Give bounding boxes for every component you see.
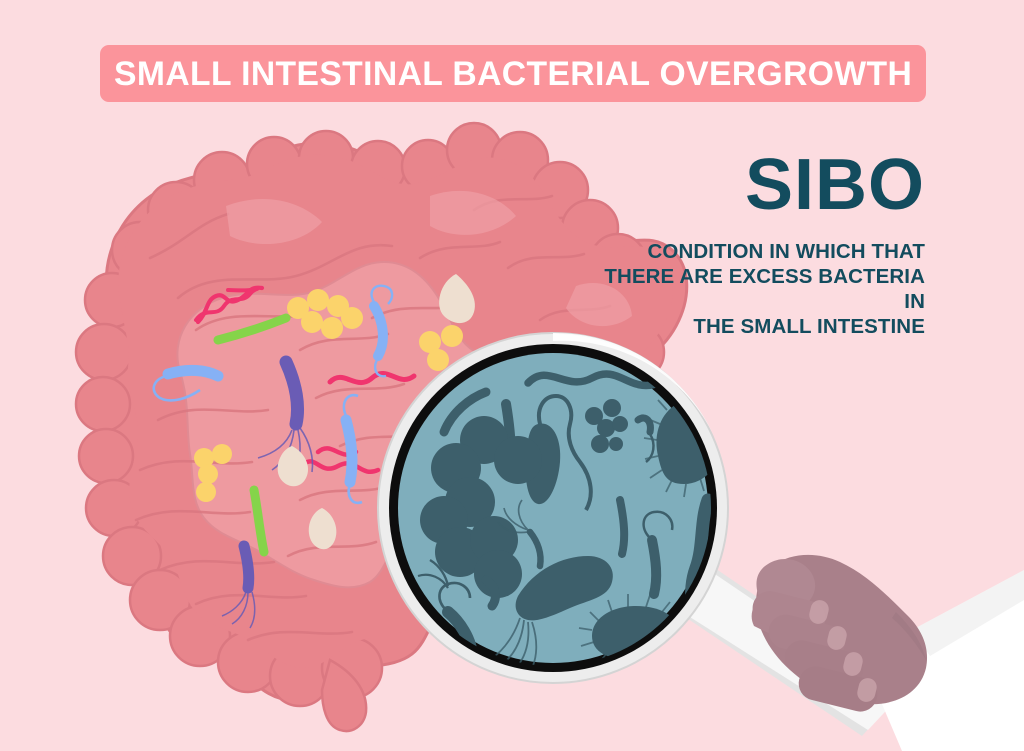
yellow-staph-cluster-icon bbox=[287, 289, 363, 339]
title-banner: SMALL INTESTINAL BACTERIAL OVERGROWTH bbox=[100, 45, 926, 102]
lens-microbes bbox=[418, 374, 737, 673]
cream-bacillus-icon-3 bbox=[309, 508, 337, 549]
sibo-illustration bbox=[0, 0, 1024, 751]
fingers bbox=[749, 588, 881, 716]
green-bacillus-icon-2 bbox=[254, 490, 264, 552]
green-bacillus-icon bbox=[218, 318, 286, 340]
cream-bacillus-icon-2 bbox=[278, 446, 308, 486]
page-title: SMALL INTESTINAL BACTERIAL OVERGROWTH bbox=[114, 57, 912, 91]
sibo-description-line-1: CONDITION IN WHICH THAT bbox=[585, 239, 925, 264]
pink-spirochete-icon-2 bbox=[330, 373, 414, 382]
long-wavy-bacillus-icon bbox=[690, 500, 708, 624]
spirochete-icon bbox=[528, 374, 712, 400]
sibo-acronym-heading: SIBO bbox=[585, 150, 925, 221]
sibo-description: CONDITION IN WHICH THAT THERE ARE EXCESS… bbox=[585, 239, 925, 339]
blue-vibrio-icon-2 bbox=[168, 370, 218, 376]
magnifier-glass bbox=[378, 333, 737, 683]
infographic-canvas: SMALL INTESTINAL BACTERIAL OVERGROWTH SI… bbox=[0, 0, 1024, 751]
teardrop-bacillus-icon bbox=[526, 423, 561, 504]
yellow-staph-cluster-icon-3 bbox=[194, 444, 232, 502]
sibo-description-line-3: THE SMALL INTESTINE bbox=[585, 314, 925, 339]
micrococcus-cluster-icon bbox=[585, 399, 628, 453]
purple-bacillus-icon bbox=[286, 362, 298, 424]
magnifier-handle bbox=[600, 554, 900, 736]
thick-bacillus-icon bbox=[516, 556, 613, 620]
hand-illustration bbox=[749, 555, 1024, 751]
streptococcus-chain-icon bbox=[420, 416, 542, 598]
ecoli-pili-icon-2 bbox=[579, 594, 691, 673]
yellow-staph-cluster-icon-2 bbox=[419, 325, 463, 371]
pink-spirochete-icon bbox=[196, 289, 257, 320]
cream-bacillus-icon bbox=[439, 274, 475, 323]
blue-vibrio-icon bbox=[374, 306, 383, 356]
curved-bacillus-icon bbox=[444, 392, 486, 432]
vibrio-flagellum-icon bbox=[448, 612, 472, 654]
purple-bacillus-icon-2 bbox=[244, 546, 249, 588]
palm bbox=[756, 555, 927, 704]
sibo-description-line-2: THERE ARE EXCESS BACTERIA IN bbox=[585, 264, 925, 314]
sibo-text-block: SIBO CONDITION IN WHICH THAT THERE ARE E… bbox=[585, 150, 925, 339]
ecoli-pili-icon bbox=[644, 384, 737, 497]
surface-microbes bbox=[154, 274, 475, 628]
blue-vibrio-icon-3 bbox=[346, 420, 352, 482]
bacillus-rod-icon bbox=[506, 404, 511, 470]
